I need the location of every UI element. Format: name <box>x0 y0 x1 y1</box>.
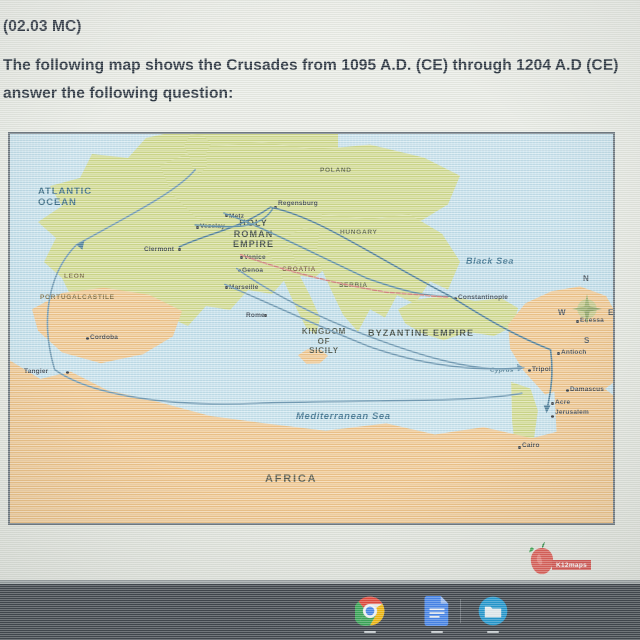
city-dot-regensburg <box>274 206 277 209</box>
city-dot-jerusalem <box>551 415 554 418</box>
chromebook-screen: (02.03 MC) The following map shows the C… <box>0 0 640 640</box>
city-dot-vezelay <box>196 226 199 229</box>
crusades-map[interactable]: ATLANTIC OCEAN Black Sea Mediterranean S… <box>8 132 615 525</box>
google-docs-icon[interactable] <box>422 596 452 626</box>
city-dot-antioch <box>557 352 560 355</box>
apple-icon <box>526 542 558 576</box>
city-dot-venice <box>240 256 243 259</box>
shelf-separator <box>460 599 461 623</box>
compass-rose: N E S W <box>558 274 615 350</box>
compass-south: S <box>584 336 589 345</box>
city-dot-tangier <box>66 371 69 374</box>
shelf-active-dot-files <box>487 631 499 633</box>
question-line-1: The following map shows the Crusades fro… <box>3 57 619 75</box>
city-dot-tripoli <box>528 369 531 372</box>
question-line-2: answer the following question: <box>3 85 233 103</box>
chromeos-shelf[interactable] <box>0 584 640 640</box>
city-dot-acre <box>551 402 554 405</box>
shelf-active-dot-chrome <box>364 631 376 633</box>
city-dot-constantinople <box>454 297 457 300</box>
compass-east: E <box>608 308 613 317</box>
shelf-active-dot-docs <box>431 631 443 633</box>
city-dot-genoa <box>238 269 241 272</box>
city-dot-cordoba <box>86 337 89 340</box>
question-code: (02.03 MC) <box>3 18 82 36</box>
city-dot-cairo <box>518 446 521 449</box>
city-dot-rome <box>264 314 267 317</box>
compass-north: N <box>583 274 589 283</box>
k12maps-watermark: K12maps <box>508 540 608 582</box>
chrome-icon[interactable] <box>355 596 385 626</box>
watermark-label: K12maps <box>552 560 591 570</box>
land-arabia-edge <box>550 384 615 524</box>
shelf-top-edge <box>0 580 640 584</box>
city-dot-clermont <box>178 248 181 251</box>
files-icon[interactable] <box>478 596 508 626</box>
city-dot-damascus <box>566 389 569 392</box>
compass-west: W <box>558 308 566 317</box>
compass-star-icon <box>572 294 602 324</box>
city-dot-metz <box>225 214 228 217</box>
city-dot-marseille <box>225 286 228 289</box>
